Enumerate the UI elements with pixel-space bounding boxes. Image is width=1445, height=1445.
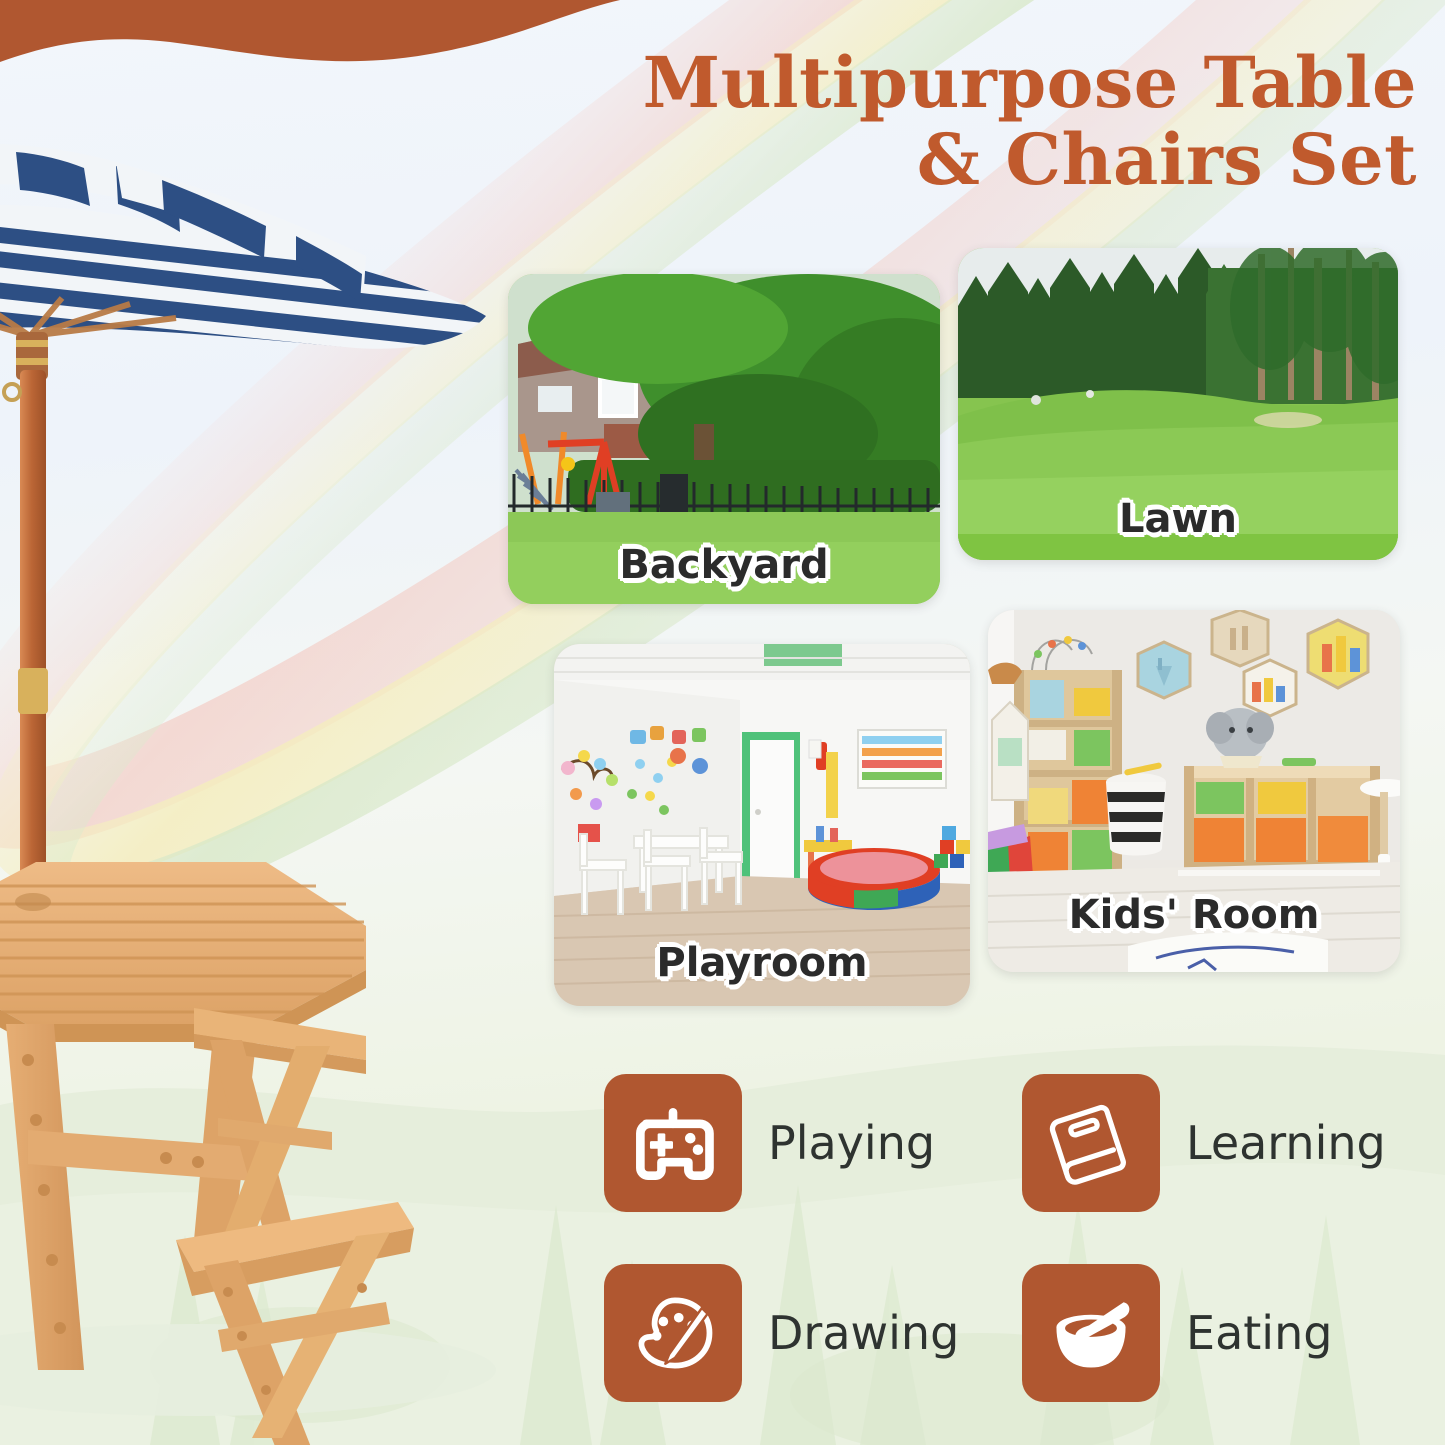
scene-card-lawn[interactable]: Lawn: [958, 248, 1398, 560]
book-tile: [1022, 1074, 1160, 1212]
product-poster: Multipurpose Table & Chairs Set: [0, 0, 1445, 1445]
page-title: Multipurpose Table & Chairs Set: [607, 44, 1417, 198]
scene-card-label: Lawn: [958, 496, 1398, 542]
scene-card-backyard[interactable]: Backyard: [508, 274, 940, 604]
product-photo: [0, 40, 566, 1445]
palette-tile: [604, 1264, 742, 1402]
scene-card-label: Kids' Room: [988, 892, 1400, 938]
feature-label: Learning: [1186, 1116, 1386, 1170]
scene-card-playroom[interactable]: Playroom: [554, 644, 970, 1006]
scene-card-kidsroom[interactable]: Kids' Room: [988, 610, 1400, 972]
feature-label: Eating: [1186, 1306, 1332, 1360]
umbrella-pole: [20, 370, 46, 910]
feature-learning[interactable]: Learning: [1022, 1048, 1422, 1238]
feature-list: Playing Learning: [604, 1048, 1424, 1408]
feature-eating[interactable]: Eating: [1022, 1238, 1422, 1428]
scene-card-label: Backyard: [508, 542, 940, 588]
title-line-1: Multipurpose Table: [643, 41, 1417, 124]
gamepad-tile: [604, 1074, 742, 1212]
scene-card-label: Playroom: [554, 940, 970, 986]
bowl-tile: [1022, 1264, 1160, 1402]
umbrella-canopy: [0, 144, 526, 382]
feature-label: Drawing: [768, 1306, 959, 1360]
palette-icon: [625, 1285, 721, 1381]
feature-drawing[interactable]: Drawing: [604, 1238, 1004, 1428]
gamepad-icon: [625, 1095, 721, 1191]
bowl-spoon-icon: [1043, 1285, 1139, 1381]
book-icon: [1043, 1095, 1139, 1191]
feature-playing[interactable]: Playing: [604, 1048, 1004, 1238]
feature-label: Playing: [768, 1116, 935, 1170]
title-line-2: & Chairs Set: [607, 121, 1417, 198]
